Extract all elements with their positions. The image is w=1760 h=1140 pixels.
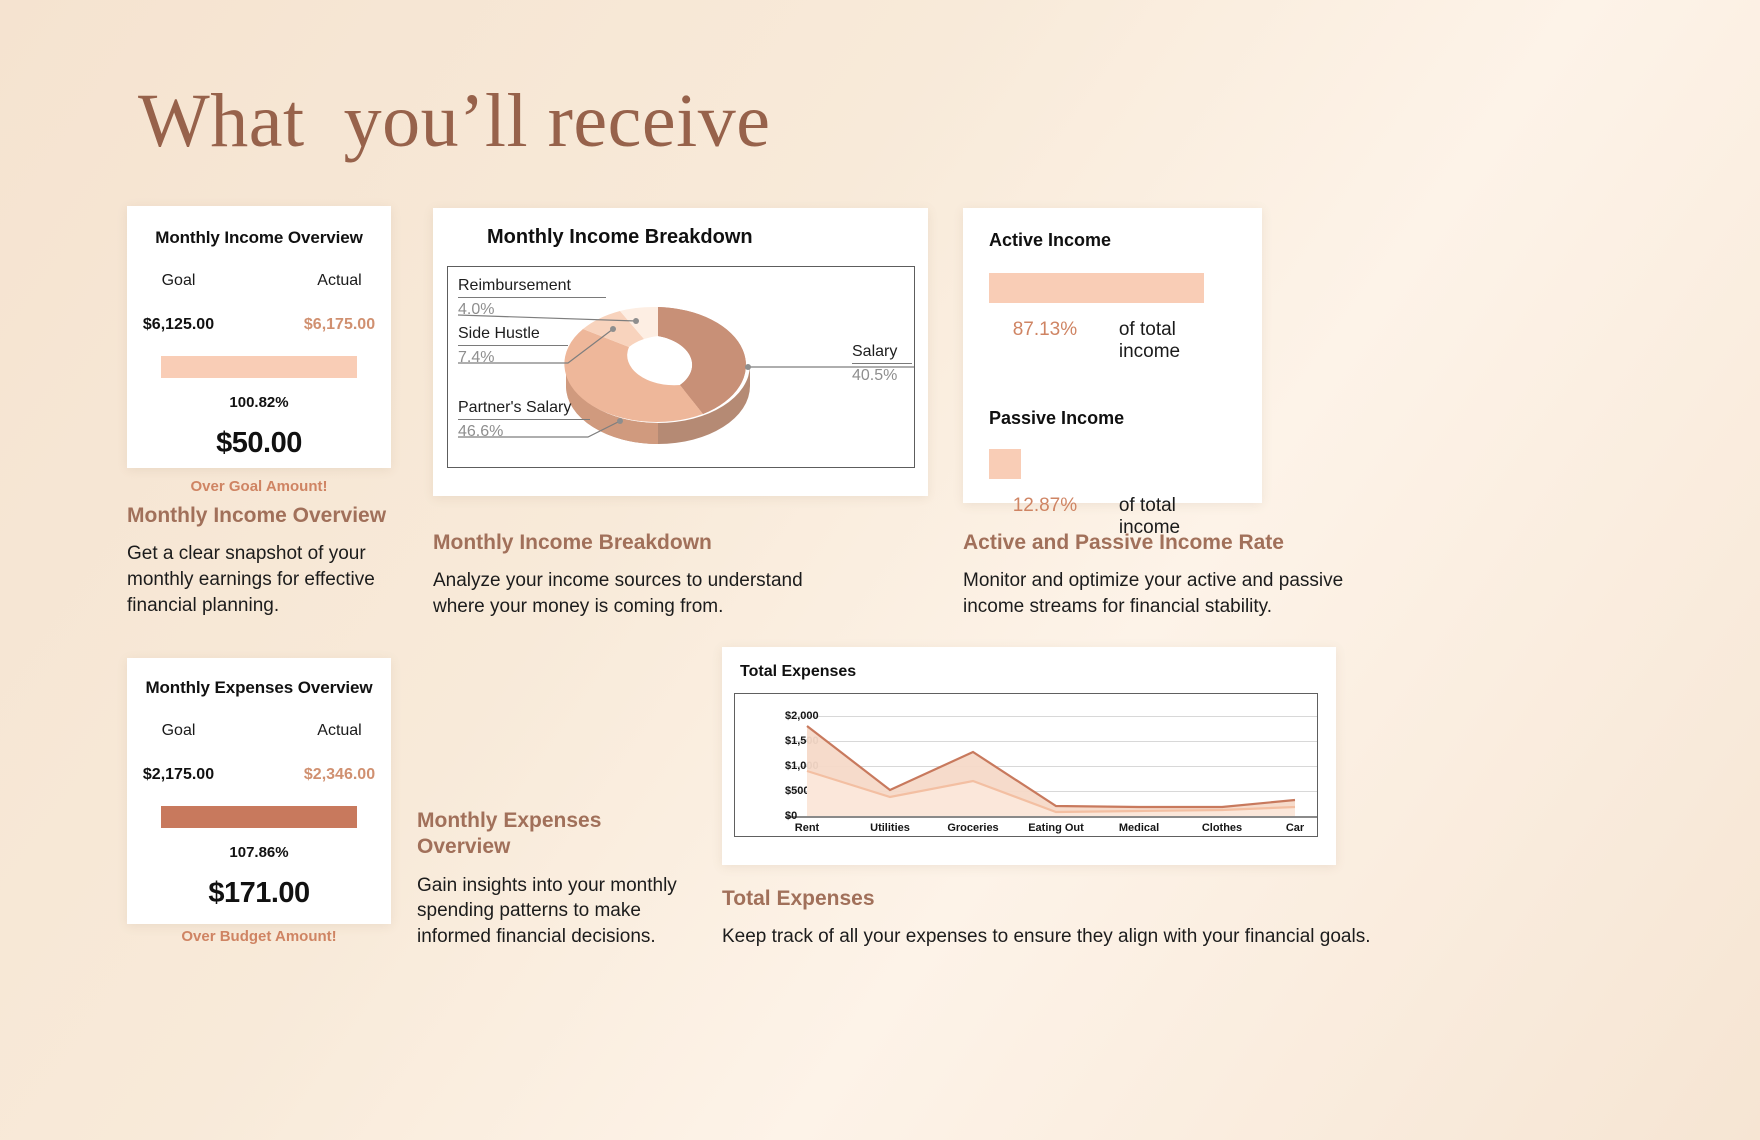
caption-body: Gain insights into your monthly spending… (417, 873, 717, 950)
income-breakdown-plot-area: Reimbursement 4.0% Side Hustle 7.4% Part… (447, 266, 915, 468)
goal-value: $6,125.00 (127, 316, 230, 334)
caption-body: Analyze your income sources to understan… (433, 568, 863, 620)
active-income-readout: 87.13% of total income (989, 319, 1236, 363)
actual-header: Actual (288, 722, 391, 740)
caption-heading: Active and Passive Income Rate (963, 530, 1403, 556)
xtick-groceries: Groceries (947, 822, 998, 834)
donut-label-name: Side Hustle (458, 325, 568, 345)
active-income-percent: 87.13% (989, 319, 1101, 341)
card-total-expenses: Total Expenses $2,000 $1,500 $1,000 $500… (722, 647, 1336, 865)
income-note: Over Goal Amount! (127, 478, 391, 495)
caption-total-expenses: Total Expenses Keep track of all your ex… (722, 886, 1422, 950)
passive-income-label: Passive Income (989, 408, 1236, 429)
income-progress-bar-track (127, 356, 391, 378)
donut-label-value: 46.6% (458, 420, 590, 441)
card-active-passive-income-rate: Active Income 87.13% of total income Pas… (963, 208, 1262, 503)
income-percent: 100.82% (127, 394, 391, 411)
passive-income-bar-fill (989, 449, 1021, 479)
income-progress-bar-fill (161, 356, 357, 378)
active-income-label: Active Income (989, 230, 1236, 251)
expenses-overview-actual-column: Actual $2,346.00 (288, 722, 391, 784)
income-overview-actual-column: Actual $6,175.00 (288, 272, 391, 334)
active-income-unit: of total income (1119, 319, 1236, 363)
expenses-percent: 107.86% (127, 844, 391, 861)
caption-heading: Monthly Income Breakdown (433, 530, 863, 556)
xtick-clothes: Clothes (1202, 822, 1242, 834)
donut-label-value: 4.0% (458, 298, 606, 319)
card-monthly-income-breakdown: Monthly Income Breakdown (433, 208, 928, 496)
poster-canvas: What you’ll receive Monthly Income Overv… (0, 0, 1760, 1140)
income-breakdown-title: Monthly Income Breakdown (487, 226, 753, 249)
expenses-progress-bar-fill (161, 806, 357, 828)
actual-value: $6,175.00 (288, 316, 391, 334)
caption-heading: Monthly Income Overview (127, 503, 427, 529)
page-title: What you’ll receive (138, 78, 770, 165)
income-overview-title: Monthly Income Overview (127, 228, 391, 248)
active-income-bar-track (989, 273, 1236, 303)
xtick-utilities: Utilities (870, 822, 910, 834)
xtick-car: Car (1286, 822, 1304, 834)
goal-header: Goal (127, 272, 230, 290)
income-amount: $50.00 (127, 427, 391, 460)
passive-income-percent: 12.87% (989, 495, 1101, 517)
caption-body: Get a clear snapshot of your monthly ear… (127, 541, 427, 618)
income-overview-goal-column: Goal $6,125.00 (127, 272, 230, 334)
donut-label-salary: Salary 40.5% (852, 343, 912, 385)
card-monthly-income-overview: Monthly Income Overview Goal $6,125.00 A… (127, 206, 391, 468)
expenses-note: Over Budget Amount! (127, 928, 391, 945)
xtick-medical: Medical (1119, 822, 1159, 834)
donut-label-partners-salary: Partner's Salary 46.6% (458, 399, 590, 441)
donut-label-name: Salary (852, 343, 912, 363)
donut-label-reimbursement: Reimbursement 4.0% (458, 277, 606, 319)
caption-monthly-income-breakdown: Monthly Income Breakdown Analyze your in… (433, 530, 863, 620)
donut-label-name: Reimbursement (458, 277, 606, 297)
caption-body: Keep track of all your expenses to ensur… (722, 924, 1422, 950)
expenses-amount: $171.00 (127, 877, 391, 910)
caption-monthly-expenses-overview: Monthly Expenses Overview Gain insights … (417, 808, 717, 950)
total-expenses-plot-area: $2,000 $1,500 $1,000 $500 $0 Rent Utili (734, 693, 1318, 837)
xtick-eating-out: Eating Out (1028, 822, 1084, 834)
total-expenses-title: Total Expenses (740, 663, 856, 681)
expenses-progress-bar-track (127, 806, 391, 828)
donut-label-value: 7.4% (458, 346, 568, 367)
total-expenses-series-svg (785, 694, 1315, 838)
expenses-overview-title: Monthly Expenses Overview (127, 678, 391, 698)
expenses-overview-goal-column: Goal $2,175.00 (127, 722, 230, 784)
expenses-overview-columns: Goal $2,175.00 Actual $2,346.00 (127, 722, 391, 784)
xtick-rent: Rent (795, 822, 819, 834)
actual-header: Actual (288, 272, 391, 290)
donut-label-side-hustle: Side Hustle 7.4% (458, 325, 568, 367)
card-monthly-expenses-overview: Monthly Expenses Overview Goal $2,175.00… (127, 658, 391, 924)
donut-label-value: 40.5% (852, 364, 912, 385)
donut-label-name: Partner's Salary (458, 399, 590, 419)
passive-income-bar-track (989, 449, 1236, 479)
goal-value: $2,175.00 (127, 766, 230, 784)
income-overview-columns: Goal $6,125.00 Actual $6,175.00 (127, 272, 391, 334)
active-income-bar-fill (989, 273, 1204, 303)
caption-monthly-income-overview: Monthly Income Overview Get a clear snap… (127, 503, 427, 619)
goal-header: Goal (127, 722, 230, 740)
actual-value: $2,346.00 (288, 766, 391, 784)
caption-body: Monitor and optimize your active and pas… (963, 568, 1403, 620)
caption-active-passive-income-rate: Active and Passive Income Rate Monitor a… (963, 530, 1403, 620)
caption-heading: Total Expenses (722, 886, 1422, 912)
caption-heading: Monthly Expenses Overview (417, 808, 717, 861)
